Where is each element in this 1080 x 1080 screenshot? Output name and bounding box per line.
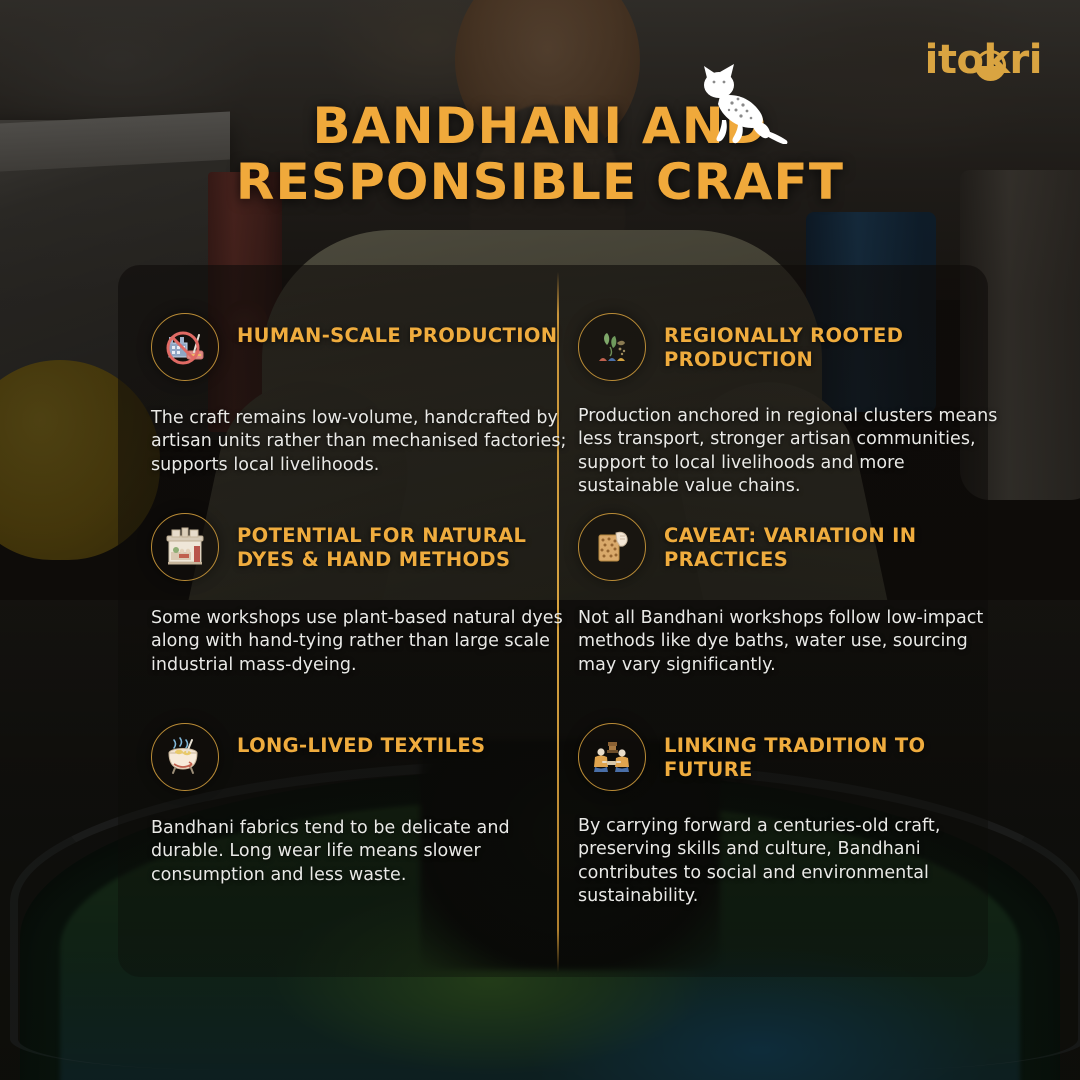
feature-body: Production anchored in regional clusters…: [578, 405, 998, 498]
no-factory-icon: [151, 313, 219, 381]
feature-item-human-scale-production[interactable]: HUMAN-SCALE PRODUCTION The craft remains…: [151, 313, 571, 477]
steaming-dye-pot-icon: [151, 723, 219, 791]
workshop-building-icon: [151, 513, 219, 581]
feature-item-long-lived-textiles[interactable]: LONG-LIVED TEXTILES Bandhani fabrics ten…: [151, 723, 571, 887]
page-title: BANDHANI AND RESPONSIBLE CRAFT: [0, 98, 1080, 210]
seedlings-icon: [578, 313, 646, 381]
feature-grid: HUMAN-SCALE PRODUCTION The craft remains…: [118, 265, 988, 977]
feature-body: The craft remains low-volume, handcrafte…: [151, 407, 571, 477]
feature-title: HUMAN-SCALE PRODUCTION: [237, 313, 557, 348]
feature-title: LONG-LIVED TEXTILES: [237, 723, 485, 758]
page-title-line-1: BANDHANI AND: [312, 97, 767, 155]
feature-item-caveat-variation-in-practices[interactable]: CAVEAT: VARIATION IN PRACTICES Not all B…: [578, 513, 998, 677]
brand-logo-basket-icon: [975, 50, 1006, 81]
feature-title: POTENTIAL FOR NATURAL DYES & HAND METHOD…: [237, 513, 571, 572]
feature-body: Some workshops use plant-based natural d…: [151, 607, 571, 677]
feature-header: CAVEAT: VARIATION IN PRACTICES: [578, 513, 998, 581]
feature-title: REGIONALLY ROOTED PRODUCTION: [664, 313, 998, 372]
feature-header: REGIONALLY ROOTED PRODUCTION: [578, 313, 998, 381]
infographic-canvas: itokri BANDHANI AND RESPONSIBLE CRAFT: [0, 0, 1080, 1080]
feature-header: POTENTIAL FOR NATURAL DYES & HAND METHOD…: [151, 513, 571, 581]
page-title-line-2: RESPONSIBLE CRAFT: [0, 154, 1080, 210]
feature-header: HUMAN-SCALE PRODUCTION: [151, 313, 571, 381]
hand-holding-fabric-icon: [578, 513, 646, 581]
feature-item-regionally-rooted-production[interactable]: REGIONALLY ROOTED PRODUCTION Production …: [578, 313, 998, 498]
feature-title: LINKING TRADITION TO FUTURE: [664, 723, 998, 782]
feature-header: LINKING TRADITION TO FUTURE: [578, 723, 998, 791]
feature-title: CAVEAT: VARIATION IN PRACTICES: [664, 513, 998, 572]
feature-body: Bandhani fabrics tend to be delicate and…: [151, 817, 571, 887]
feature-item-linking-tradition-to-future[interactable]: LINKING TRADITION TO FUTURE By carrying …: [578, 723, 998, 908]
feature-header: LONG-LIVED TEXTILES: [151, 723, 571, 791]
feature-body: By carrying forward a centuries-old craf…: [578, 815, 998, 908]
two-artisans-icon: [578, 723, 646, 791]
feature-body: Not all Bandhani workshops follow low-im…: [578, 607, 998, 677]
feature-item-natural-dyes-hand-methods[interactable]: POTENTIAL FOR NATURAL DYES & HAND METHOD…: [151, 513, 571, 677]
